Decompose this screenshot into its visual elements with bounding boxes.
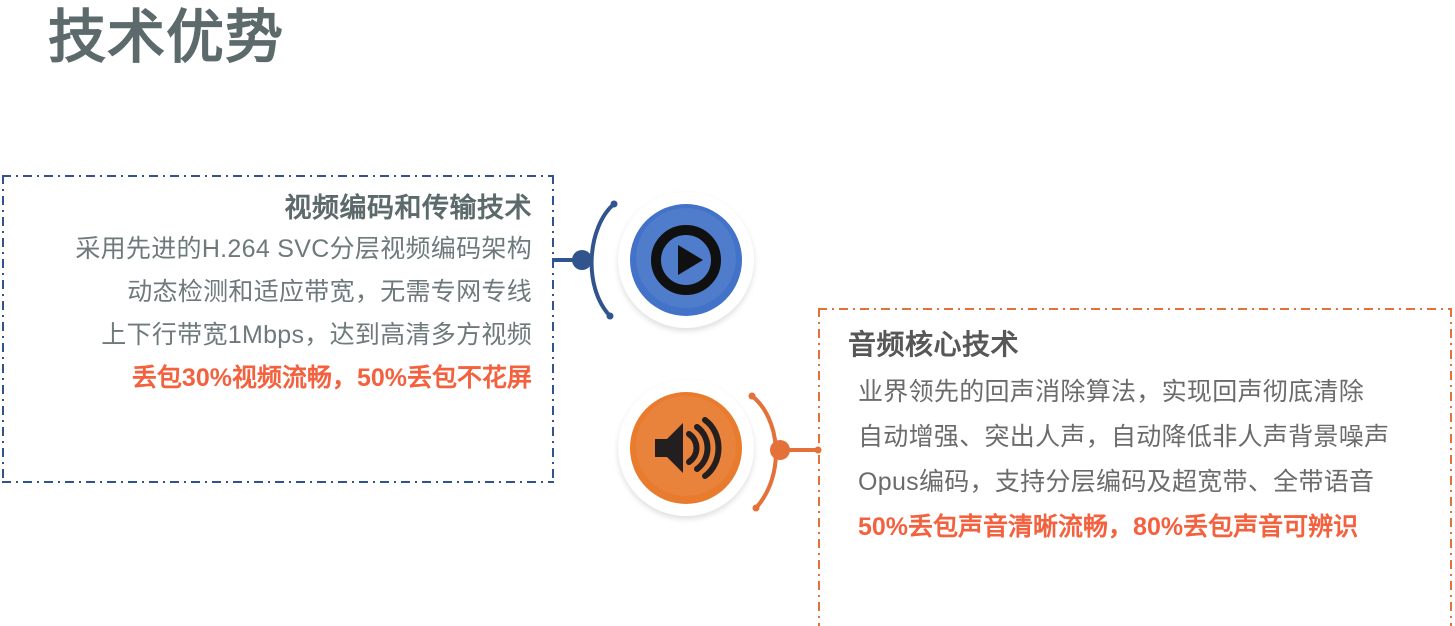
speaker-volume-icon	[649, 415, 723, 481]
play-circle-icon	[650, 224, 722, 296]
audio-icon-disc	[630, 392, 742, 504]
audio-panel-highlight-line: 50%丢包声音清晰流畅，80%丢包声音可辨识	[834, 505, 1440, 550]
video-icon-disc	[630, 204, 742, 316]
audio-panel-line-3: Opus编码，支持分层编码及超宽带、全带语音	[834, 460, 1440, 505]
video-panel-line-1: 采用先进的H.264 SVC分层视频编码架构	[16, 228, 540, 271]
slide-canvas: 技术优势 视频编码和传输技术 采用先进的H.264 SVC分层视频编码架构 动态…	[0, 0, 1455, 626]
video-icon-badge[interactable]	[618, 192, 754, 328]
audio-panel-heading: 音频核心技术	[834, 318, 1440, 370]
video-panel-line-3: 上下行带宽1Mbps，达到高清多方视频	[16, 314, 540, 357]
video-panel-line-2: 动态检测和适应带宽，无需专网专线	[16, 271, 540, 314]
audio-icon-badge[interactable]	[618, 380, 754, 516]
video-panel-heading: 视频编码和传输技术	[16, 183, 540, 228]
audio-panel-line-2: 自动增强、突出人声，自动降低非人声背景噪声	[834, 415, 1440, 460]
audio-panel-line-1: 业界领先的回声消除算法，实现回声彻底清除	[834, 370, 1440, 415]
page-title: 技术优势	[48, 2, 284, 75]
video-technology-panel: 视频编码和传输技术 采用先进的H.264 SVC分层视频编码架构 动态检测和适应…	[2, 175, 554, 483]
audio-technology-panel: 音频核心技术 业界领先的回声消除算法，实现回声彻底清除 自动增强、突出人声，自动…	[818, 308, 1452, 626]
video-panel-highlight-line: 丢包30%视频流畅，50%丢包不花屏	[16, 357, 540, 400]
